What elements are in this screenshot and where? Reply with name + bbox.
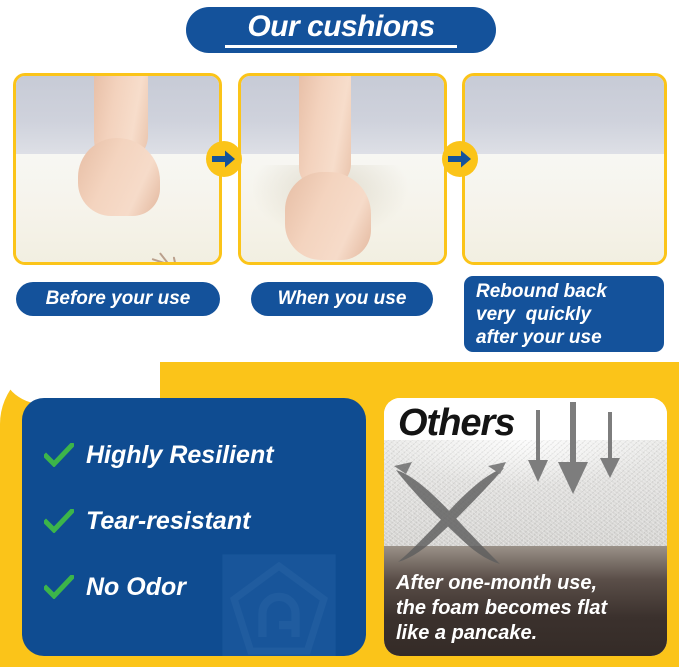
arrow-right-icon xyxy=(442,141,478,177)
title-underline xyxy=(225,45,457,48)
step-label-line: Rebound back xyxy=(476,280,607,303)
step-label-line: after your use xyxy=(476,326,602,349)
feature-list: Highly Resilient Tear-resistant No Odor xyxy=(44,436,344,634)
arrow-right-glyph xyxy=(448,149,472,169)
feature-item: Tear-resistant xyxy=(44,502,344,540)
step-image-during xyxy=(238,73,447,265)
step-label-after: Rebound back very quickly after your use xyxy=(464,276,664,352)
step-label-text: When you use xyxy=(278,288,407,310)
feature-label: Highly Resilient xyxy=(86,441,274,470)
caption-line: like a pancake. xyxy=(396,621,607,646)
arrow-right-icon xyxy=(206,141,242,177)
competitor-panel: Others After one-month use, xyxy=(384,398,667,656)
arrow-right-glyph xyxy=(212,149,236,169)
caption-line: the foam becomes flat xyxy=(396,596,607,621)
arrow-down-icon xyxy=(516,400,632,500)
step-label-before: Before your use xyxy=(16,282,220,316)
competitor-caption: After one-month use, the foam becomes fl… xyxy=(396,571,607,646)
feature-label: Tear-resistant xyxy=(86,507,250,536)
step-label-text: Before your use xyxy=(46,288,191,310)
check-icon xyxy=(44,575,74,599)
step-image-before xyxy=(13,73,222,265)
foam-surface xyxy=(465,154,664,262)
step-label-during: When you use xyxy=(251,282,433,316)
brush-cross-icon xyxy=(388,460,516,570)
check-icon xyxy=(44,443,74,467)
page-title: Our cushions xyxy=(247,12,434,42)
feature-item: No Odor xyxy=(44,568,344,606)
step-label-line: very quickly xyxy=(476,303,591,326)
feature-label: No Odor xyxy=(86,573,186,602)
step-image-after xyxy=(462,73,667,265)
features-panel: Highly Resilient Tear-resistant No Odor xyxy=(22,398,366,656)
check-icon xyxy=(44,509,74,533)
caption-line: After one-month use, xyxy=(396,571,607,596)
page-title-banner: Our cushions xyxy=(186,7,496,53)
panel-background-wall xyxy=(465,76,664,158)
product-infographic: Our cushions xyxy=(0,0,679,667)
fist-shape xyxy=(285,172,371,260)
feature-item: Highly Resilient xyxy=(44,436,344,474)
competitor-title: Others xyxy=(398,402,514,445)
